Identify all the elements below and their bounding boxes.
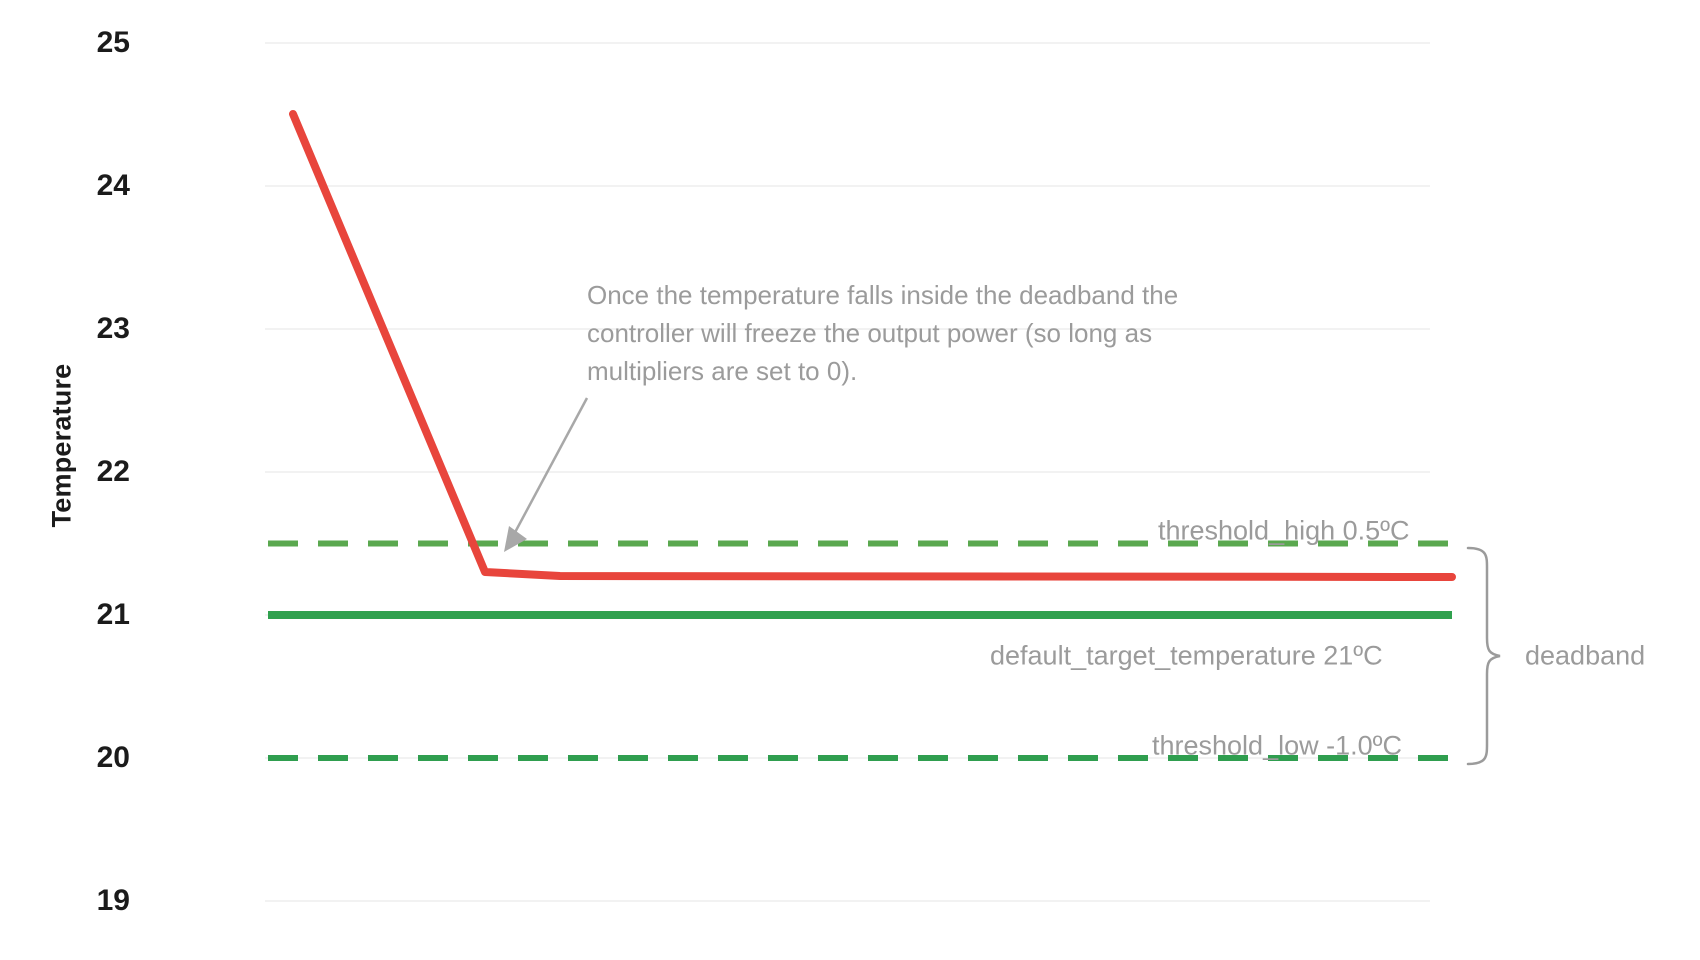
chart-canvas: 25 24 23 22 21 20 19 Temperature Once th…	[0, 0, 1700, 960]
gridline-22	[265, 471, 1430, 473]
deadband-callout-text: Once the temperature falls inside the de…	[587, 276, 1317, 390]
y-tick-19: 19	[40, 884, 130, 918]
deadband-brace	[1468, 548, 1500, 764]
deadband-brace-label: deadband	[1525, 641, 1645, 672]
gridline-21	[265, 614, 1430, 616]
gridline-19	[265, 900, 1430, 902]
y-tick-20: 20	[40, 741, 130, 775]
target-temperature-label: default_target_temperature 21ºC	[990, 641, 1383, 672]
y-tick-24: 24	[40, 169, 130, 203]
series-layer	[0, 0, 1700, 960]
y-tick-21: 21	[40, 598, 130, 632]
gridline-24	[265, 185, 1430, 187]
y-axis-title: Temperature	[47, 316, 78, 576]
gridline-25	[265, 42, 1430, 44]
threshold-high-label: threshold_high 0.5ºC	[1158, 516, 1410, 547]
threshold-low-label: threshold_low -1.0ºC	[1152, 731, 1402, 762]
y-tick-25: 25	[40, 26, 130, 60]
callout-arrow	[504, 398, 587, 552]
